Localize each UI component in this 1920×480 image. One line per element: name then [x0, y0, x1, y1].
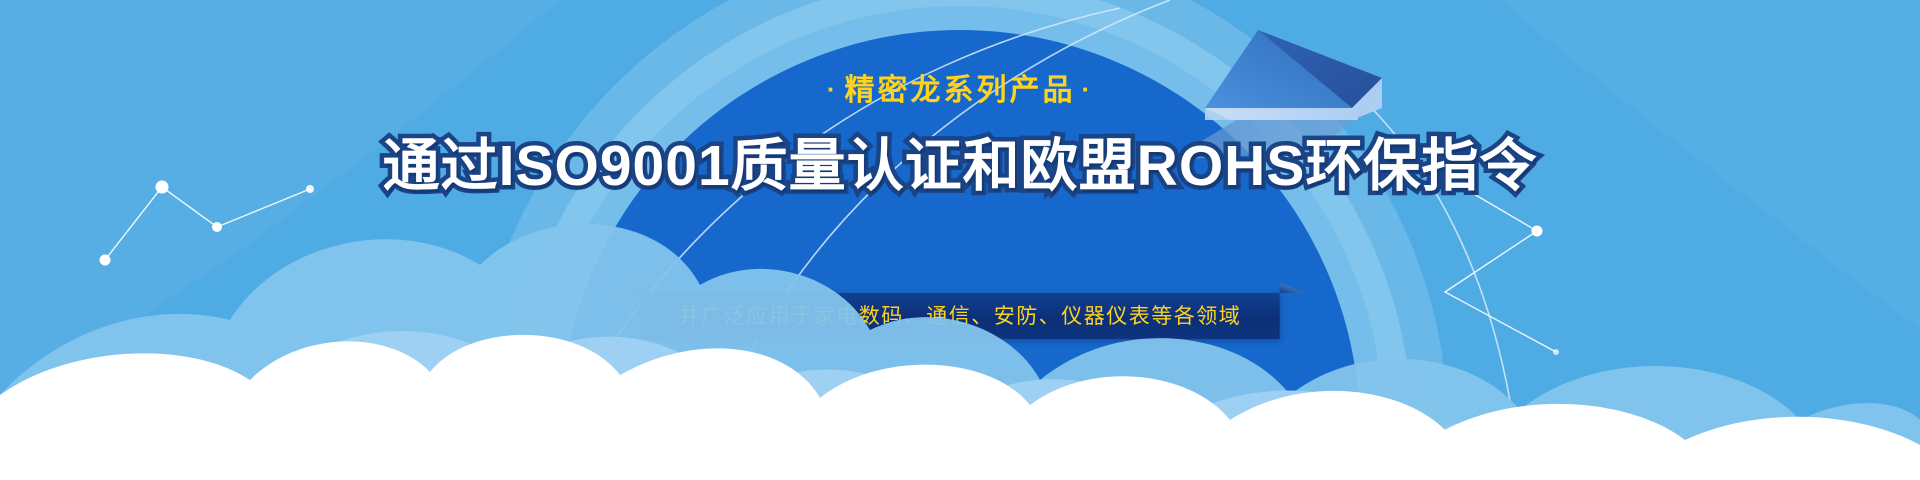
banner-background-art: [0, 0, 1920, 480]
promo-banner: ·精密龙系列产品· 通过ISO9001质量认证和欧盟ROHS环保指令 并广泛应用…: [0, 0, 1920, 480]
background-group: [0, 0, 1920, 480]
